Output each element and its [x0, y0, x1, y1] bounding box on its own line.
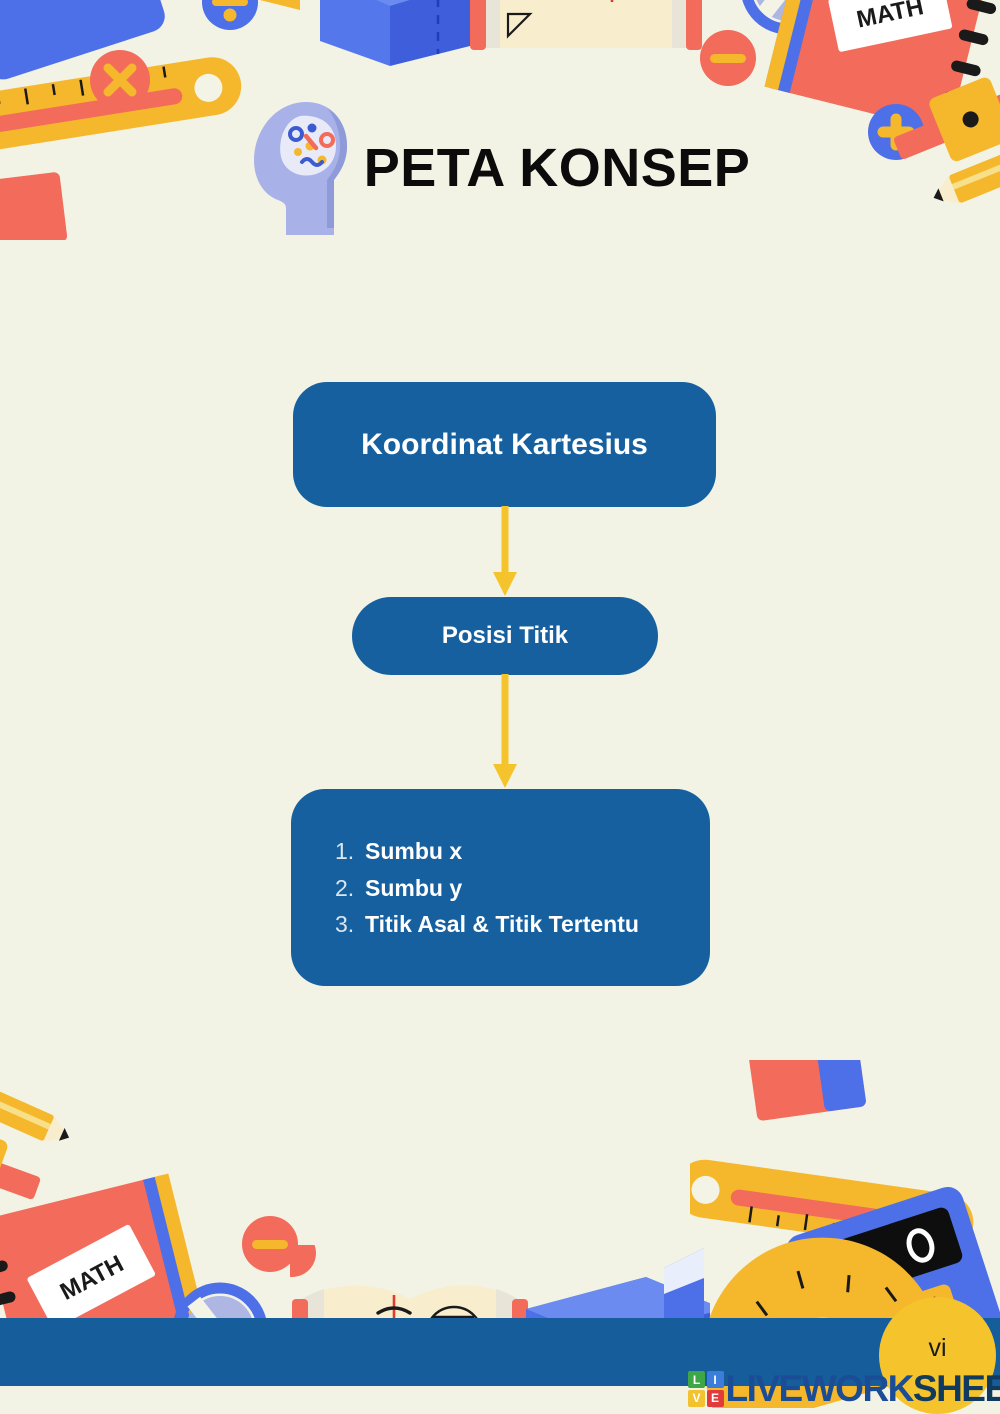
liveworksheets-logo-blocks: L I V E — [688, 1371, 724, 1407]
worksheet-page: +69 x58 — [0, 0, 1000, 1414]
page-number: vi — [928, 1334, 946, 1363]
list-item: Sumbu y — [311, 870, 710, 907]
wordmark-part-1: LIVEWORK — [726, 1368, 913, 1409]
arrow-root-to-mid — [492, 506, 518, 598]
logo-block-l: L — [688, 1371, 705, 1388]
liveworksheets-logo[interactable]: L I V E LIVEWORKSHEETS — [688, 1368, 1000, 1410]
logo-block-e: E — [707, 1390, 724, 1407]
liveworksheets-wordmark: LIVEWORKSHEETS — [726, 1368, 1000, 1410]
wordmark-part-2: SHEETS — [913, 1368, 1000, 1409]
concept-node-root[interactable]: Koordinat Kartesius — [293, 382, 716, 507]
concept-map: Koordinat Kartesius Posisi Titik Sumbu x… — [0, 0, 1000, 1414]
arrow-mid-to-list — [492, 674, 518, 790]
list-item: Sumbu x — [311, 833, 710, 870]
concept-node-list[interactable]: Sumbu x Sumbu y Titik Asal & Titik Terte… — [291, 789, 710, 986]
concept-list: Sumbu x Sumbu y Titik Asal & Titik Terte… — [311, 833, 710, 943]
logo-block-i: I — [707, 1371, 724, 1388]
concept-node-mid[interactable]: Posisi Titik — [352, 597, 658, 675]
logo-block-v: V — [688, 1390, 705, 1407]
list-item: Titik Asal & Titik Tertentu — [311, 906, 710, 943]
